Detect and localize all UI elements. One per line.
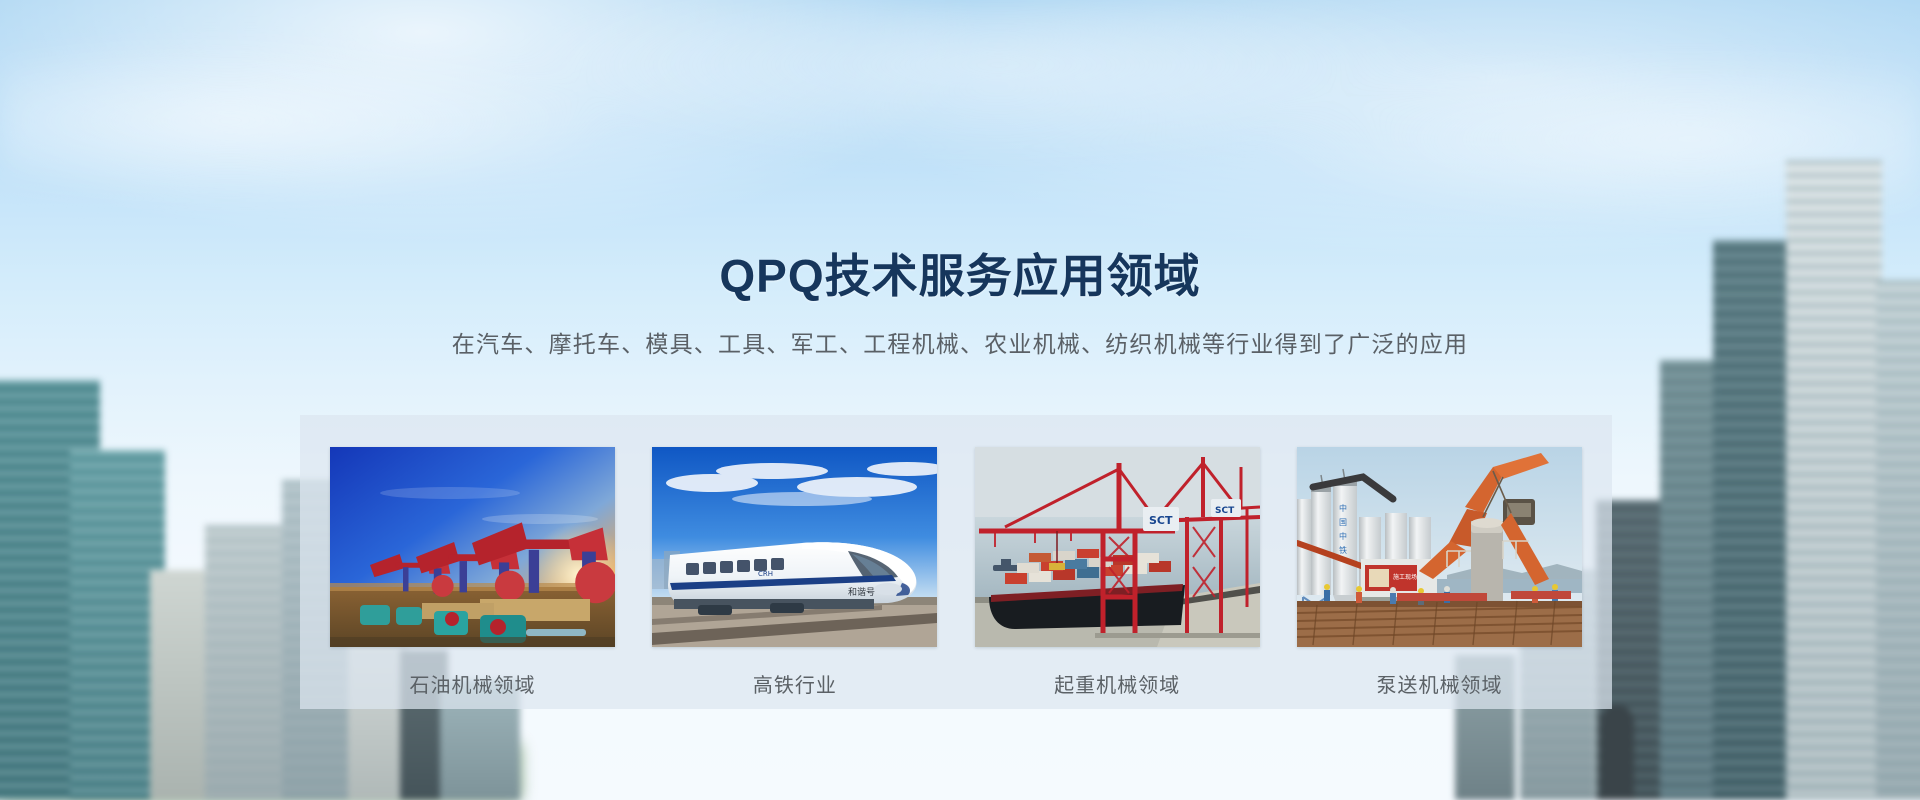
svg-text:SCT: SCT xyxy=(1149,514,1173,527)
port-gantry-crane-photo: SCT SCT xyxy=(975,447,1260,647)
svg-text:中: 中 xyxy=(1339,503,1347,513)
svg-text:施工现场: 施工现场 xyxy=(1393,573,1417,581)
field-card-crane[interactable]: SCT SCT 起重机械领域 xyxy=(975,447,1260,709)
svg-text:SCT: SCT xyxy=(1215,506,1235,516)
svg-text:CRH: CRH xyxy=(758,570,773,578)
fields-card-panel: 石油机械领域 xyxy=(300,415,1612,709)
page-title: QPQ技术服务应用领域 xyxy=(0,240,1920,306)
field-card-rail[interactable]: CRH 和谐号 高铁行业 xyxy=(652,447,937,709)
svg-text:和谐号: 和谐号 xyxy=(848,587,875,598)
field-card-caption: 高铁行业 xyxy=(652,669,937,698)
oil-pumpjack-photo xyxy=(330,447,615,647)
field-card-caption: 石油机械领域 xyxy=(330,669,615,698)
svg-text:中: 中 xyxy=(1339,531,1347,541)
svg-text:国: 国 xyxy=(1339,518,1347,527)
field-card-oil[interactable]: 石油机械领域 xyxy=(330,447,615,709)
high-speed-train-photo: CRH 和谐号 xyxy=(652,447,937,647)
field-card-caption: 起重机械领域 xyxy=(975,669,1260,698)
field-card-pump[interactable]: 中国中铁 xyxy=(1297,447,1582,709)
banner-content: QPQ技术服务应用领域 在汽车、摩托车、模具、工具、军工、工程机械、农业机械、纺… xyxy=(0,0,1920,800)
field-card-caption: 泵送机械领域 xyxy=(1297,669,1582,698)
svg-text:铁: 铁 xyxy=(1339,545,1347,555)
application-fields-banner: QPQ技术服务应用领域 在汽车、摩托车、模具、工具、军工、工程机械、农业机械、纺… xyxy=(0,0,1920,800)
page-subtitle: 在汽车、摩托车、模具、工具、军工、工程机械、农业机械、纺织机械等行业得到了广泛的… xyxy=(0,325,1920,359)
concrete-pump-site-photo: 中国中铁 xyxy=(1297,447,1582,647)
